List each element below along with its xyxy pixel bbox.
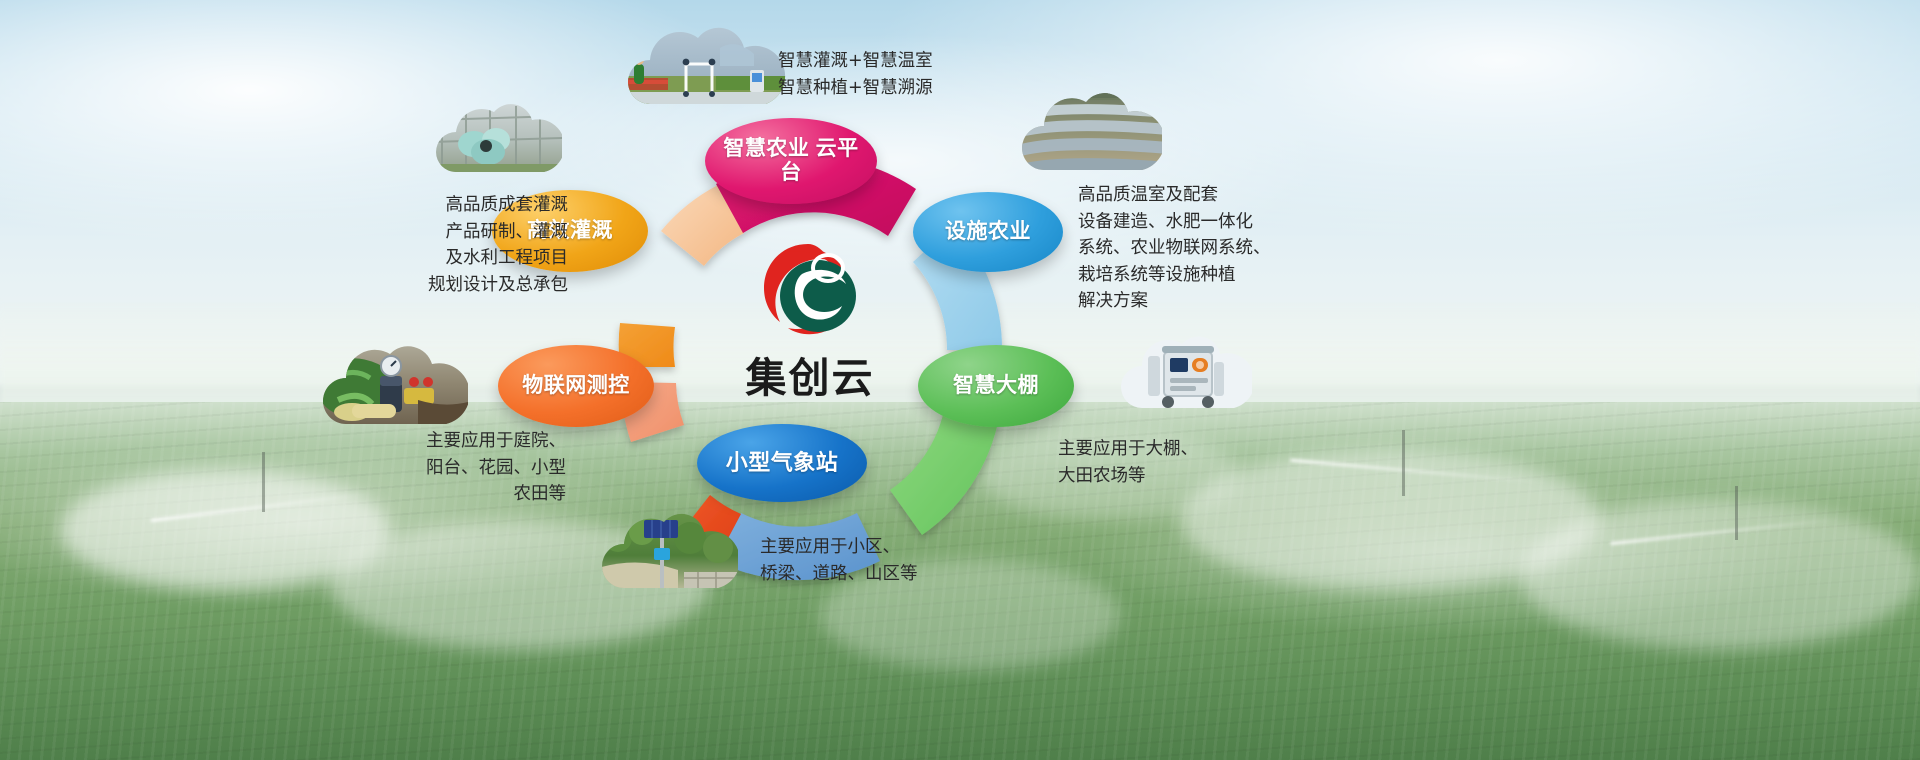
note-weather-station: 主要应用于小区、 桥梁、道路、山区等 xyxy=(760,534,1080,587)
node-cloud-platform-label: 智慧农业 云平台 xyxy=(705,137,877,184)
node-smart-greenhouse[interactable]: 智慧大棚 xyxy=(918,345,1074,427)
node-facility-agriculture-label: 设施农业 xyxy=(937,220,1039,244)
node-weather-station-label: 小型气象站 xyxy=(718,451,847,476)
node-iot-monitoring[interactable]: 物联网测控 xyxy=(498,345,654,427)
sprinkler-post xyxy=(1402,430,1405,496)
jichuangyun-logo-icon xyxy=(758,240,862,340)
thumb-greenhouse-planting xyxy=(620,18,790,110)
sprinkler-spray xyxy=(1520,500,1920,650)
sprinkler-post xyxy=(262,452,265,512)
note-cloud-platform: 智慧灌溉+智慧温室 智慧种植+智慧溯源 xyxy=(778,48,1078,101)
thumb-fertigation-machine xyxy=(1118,322,1252,414)
thumb-irrigation-equipment xyxy=(432,90,562,178)
note-iot-monitoring: 主要应用于庭院、 阳台、花园、小型 农田等 xyxy=(308,428,566,508)
node-cloud-platform[interactable]: 智慧农业 云平台 xyxy=(705,118,877,204)
brand-logo: 集创云 xyxy=(690,240,930,390)
infographic-canvas: 集创云 智慧农业 云平台 设施农业 智慧大棚 小型气象站 物联网测控 高效灌溉 xyxy=(0,0,1920,760)
node-weather-station[interactable]: 小型气象站 xyxy=(697,424,867,502)
node-iot-monitoring-label: 物联网测控 xyxy=(514,374,638,398)
brand-name: 集创云 xyxy=(690,344,930,404)
node-smart-greenhouse-label: 智慧大棚 xyxy=(945,374,1047,398)
note-facility-agriculture: 高品质温室及配套 设备建造、水肥一体化 系统、农业物联网系统、 栽培系统等设施种… xyxy=(1078,182,1408,315)
sprinkler-post xyxy=(1735,486,1738,540)
note-smart-greenhouse: 主要应用于大棚、 大田农场等 xyxy=(1058,436,1358,489)
thumb-valve-controller xyxy=(318,330,468,430)
node-facility-agriculture[interactable]: 设施农业 xyxy=(913,192,1063,272)
thumb-solar-weather-station xyxy=(598,498,738,594)
note-efficient-irrigation: 高品质成套灌溉 产品研制、灌溉 及水利工程项目 规划设计及总承包 xyxy=(268,192,568,298)
